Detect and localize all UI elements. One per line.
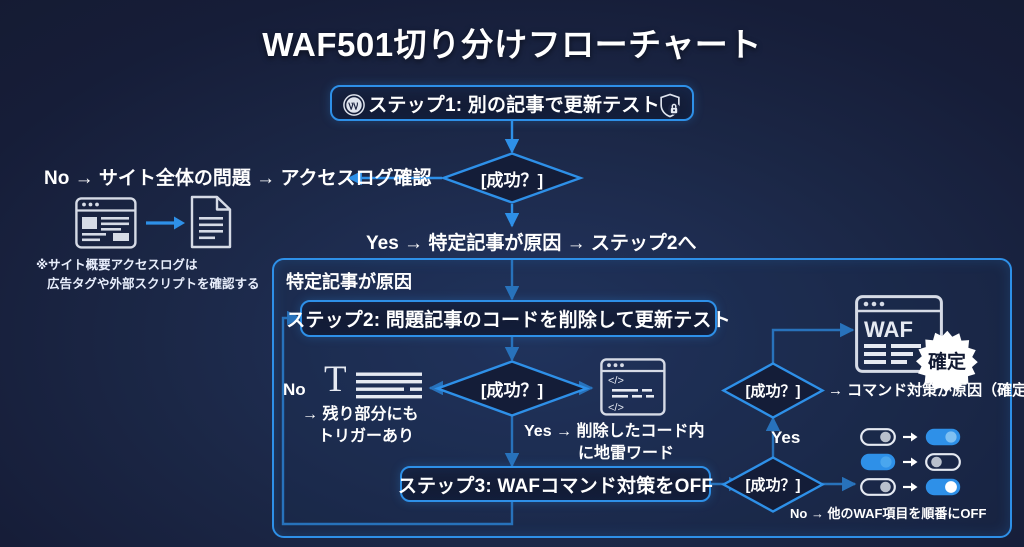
decision2-yes-line2: に地雷ワード: [524, 443, 704, 465]
toggle-on-icon[interactable]: [860, 453, 896, 471]
shield-lock-icon: [658, 93, 682, 118]
browser-window-icon: [75, 197, 137, 249]
decision3-label: [成功？]: [746, 380, 801, 401]
decision1-label: [成功？]: [481, 166, 543, 191]
toggle-on-icon[interactable]: [925, 428, 961, 446]
decision2-diamond: [成功？]: [436, 360, 588, 417]
toggle-off-icon[interactable]: [860, 428, 896, 446]
arrow-right-icon: [146, 215, 186, 231]
wordpress-icon: [343, 94, 365, 116]
yes-edge-label: Yes: [771, 427, 800, 450]
svg-text:T: T: [324, 359, 347, 400]
flowchart-canvas: WAF501切り分けフローチャート: [0, 0, 1024, 547]
toggle-row: [860, 478, 976, 496]
step2-node[interactable]: ステップ2: 問題記事のコードを削除して更新テスト: [300, 300, 717, 337]
toggle-off-icon[interactable]: [925, 453, 961, 471]
step1-label: ステップ1: 別の記事で更新テスト: [368, 90, 660, 117]
result-confirmed-label: → コマンド対策が原因（確定）: [828, 381, 1024, 401]
decision2-no-line2: トリガーあり: [302, 426, 418, 448]
document-icon: [190, 195, 232, 249]
decision3-diamond: [成功？]: [722, 362, 824, 419]
step3-node[interactable]: ステップ3: WAFコマンド対策をOFF: [400, 466, 711, 502]
decision2-no-line1: → 残り部分にも: [302, 404, 418, 426]
toggle-row: [860, 428, 976, 446]
toggle-off-icon[interactable]: [860, 478, 896, 496]
arrow-right-icon: [903, 431, 918, 443]
decision2-no-detail: → 残り部分にも トリガーあり: [302, 404, 418, 447]
decision4-label: [成功？]: [746, 474, 801, 495]
access-log-note-line1: ※サイト概要アクセスログは: [36, 256, 260, 275]
step3-label: ステップ3: WAFコマンド対策をOFF: [398, 471, 713, 498]
svg-text:</>: </>: [608, 375, 624, 387]
step2-label: ステップ2: 問題記事のコードを削除して更新テスト: [286, 305, 731, 332]
branch-yes-top-label: Yes → 特定記事が原因 → ステップ2へ: [366, 231, 696, 257]
decision2-yes-detail: Yes → 削除したコード内 に地雷ワード: [524, 421, 704, 464]
svg-text:</>: </>: [608, 402, 624, 414]
toggle-switch-group: [860, 428, 976, 496]
access-log-note: ※サイト概要アクセスログは 広告タグや外部スクリプトを確認する: [36, 256, 260, 294]
confirmed-badge-text: 確定: [928, 350, 966, 373]
step1-node[interactable]: ステップ1: 別の記事で更新テスト: [330, 85, 694, 121]
decision2-yes-line1: Yes → 削除したコード内: [524, 421, 704, 443]
arrow-right-icon: [903, 481, 918, 493]
group-title: 特定記事が原因: [286, 268, 412, 294]
code-window-icon: </> </>: [600, 358, 666, 416]
text-lines-icon: T: [322, 360, 426, 400]
svg-text:WAF: WAF: [864, 317, 913, 342]
toggle-on-icon[interactable]: [925, 478, 961, 496]
toggle-row: [860, 453, 976, 471]
arrow-right-icon: [903, 456, 918, 468]
access-log-note-line2: 広告タグや外部スクリプトを確認する: [36, 275, 260, 294]
decision1-diamond: [成功？]: [442, 152, 582, 204]
decision2-label: [成功？]: [481, 376, 543, 401]
branch-no-top-label: No → サイト全体の問題 → アクセスログ確認: [44, 166, 432, 192]
result-no-label: No → 他のWAF項目を順番にOFF: [790, 505, 986, 523]
decision2-no-label: No: [283, 379, 306, 402]
